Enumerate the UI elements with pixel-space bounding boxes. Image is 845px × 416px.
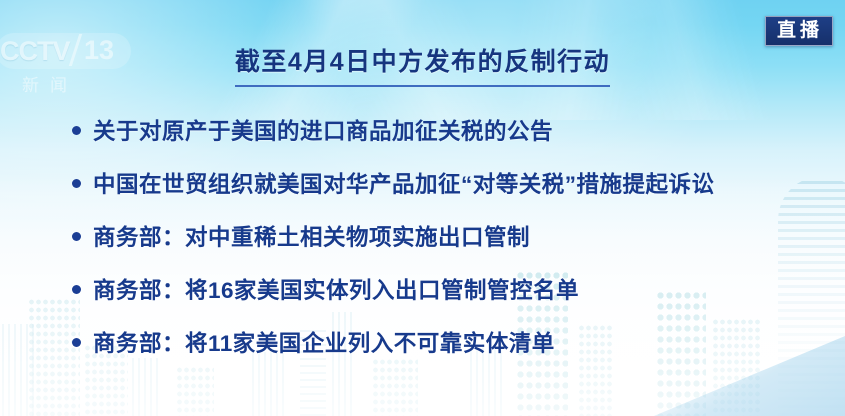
headline-title: 截至4月4日中方发布的反制行动	[235, 42, 610, 87]
bullet-dot-icon	[72, 285, 81, 294]
list-item-label: 商务部：对中重稀土相关物项实施出口管制	[93, 220, 530, 252]
list-item-label: 商务部：将11家美国企业列入不可靠实体清单	[93, 326, 555, 358]
list-item-label: 中国在世贸组织就美国对华产品加征“对等关税”措施提起诉讼	[93, 167, 715, 199]
bullet-dot-icon	[72, 179, 81, 188]
list-item: 商务部：将11家美国企业列入不可靠实体清单	[72, 315, 815, 368]
list-item: 关于对原产于美国的进口商品加征关税的公告	[72, 103, 815, 156]
bullet-list: 关于对原产于美国的进口商品加征关税的公告 中国在世贸组织就美国对华产品加征“对等…	[72, 103, 815, 368]
list-item-label: 商务部：将16家美国实体列入出口管制管控名单	[93, 273, 579, 305]
list-item-label: 关于对原产于美国的进口商品加征关税的公告	[93, 114, 553, 146]
bullet-dot-icon	[72, 126, 81, 135]
list-item: 中国在世贸组织就美国对华产品加征“对等关税”措施提起诉讼	[72, 156, 815, 209]
list-item: 商务部：将16家美国实体列入出口管制管控名单	[72, 262, 815, 315]
bullet-dot-icon	[72, 232, 81, 241]
headline-container: 截至4月4日中方发布的反制行动	[0, 42, 845, 87]
broadcast-lower-third-graphic: CCTV 13 新闻 直播 截至4月4日中方发布的反制行动 关于对原产于美国的进…	[0, 0, 845, 416]
bullet-dot-icon	[72, 338, 81, 347]
list-item: 商务部：对中重稀土相关物项实施出口管制	[72, 209, 815, 262]
